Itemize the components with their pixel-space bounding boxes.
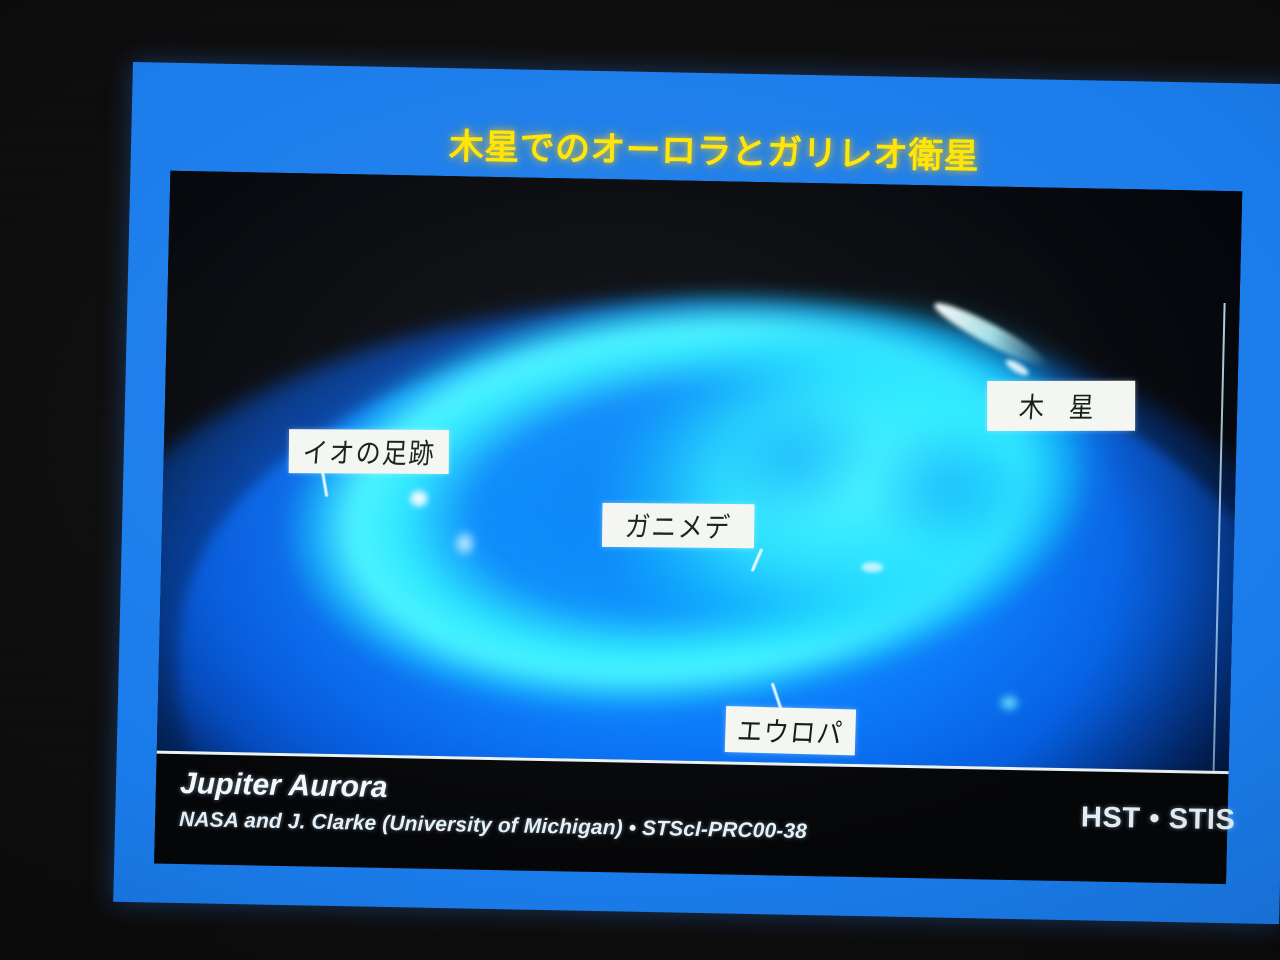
presentation-slide: 木星でのオーロラとガリレオ衛星 (113, 62, 1280, 924)
callout-europa: エウロパ (725, 706, 856, 755)
jupiter-aurora-image: イオの足跡 ガニメデ エウロパ 木 星 (157, 171, 1242, 771)
ganymede-footprint-spot (861, 562, 883, 572)
callout-jupiter-label: 木 星 (1018, 386, 1104, 426)
callout-io-label: イオの足跡 (301, 431, 437, 472)
projected-slide-wrapper: 木星でのオーロラとガリレオ衛星 (113, 62, 1280, 924)
photo-plate: イオの足跡 ガニメデ エウロパ 木 星 Jupiter Aurora NAS (154, 171, 1242, 881)
callout-ganymede-label: ガニメデ (624, 505, 733, 546)
caption-instrument: HST • STIS (1081, 801, 1236, 837)
callout-ganymede: ガニメデ (602, 503, 755, 548)
callout-jupiter: 木 星 (987, 381, 1135, 431)
caption-bar: Jupiter Aurora NASA and J. Clarke (Unive… (154, 751, 1228, 885)
callout-io-footprint: イオの足跡 (289, 429, 449, 474)
callout-europa-label: エウロパ (735, 709, 845, 752)
caption-title: Jupiter Aurora (180, 767, 388, 805)
caption-credit: NASA and J. Clarke (University of Michig… (179, 808, 807, 844)
projector-room-background: 木星でのオーロラとガリレオ衛星 (0, 0, 1280, 960)
